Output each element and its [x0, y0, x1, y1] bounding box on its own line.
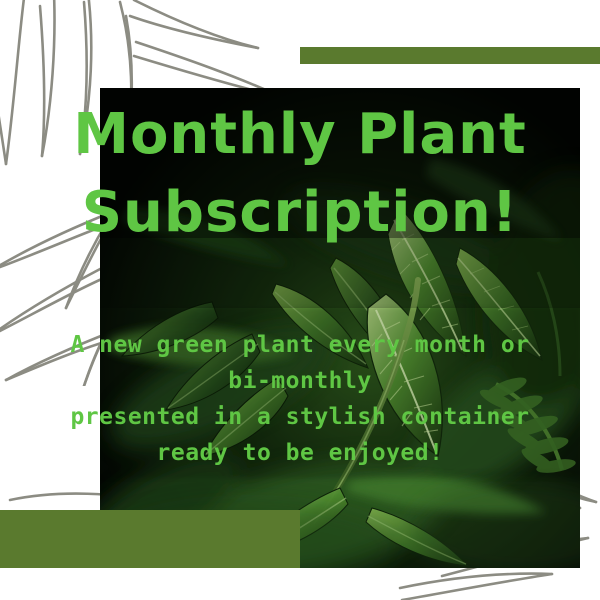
bottom-accent-bar [0, 510, 300, 568]
body-copy-line-1: A new green plant every month or [0, 327, 600, 363]
top-accent-bar [300, 47, 600, 64]
body-copy-line-4: ready to be enjoyed! [0, 435, 600, 471]
body-copy-block: A new green plant every month or bi-mont… [0, 327, 600, 471]
headline-line-1: Monthly Plant [0, 96, 600, 174]
poster-canvas: Monthly Plant Subscription! A new green … [0, 0, 600, 600]
body-copy-line-2: bi-monthly [0, 363, 600, 399]
headline-block: Monthly Plant Subscription! [0, 96, 600, 252]
body-copy-line-3: presented in a stylish container [0, 399, 600, 435]
headline-line-2: Subscription! [0, 174, 600, 252]
